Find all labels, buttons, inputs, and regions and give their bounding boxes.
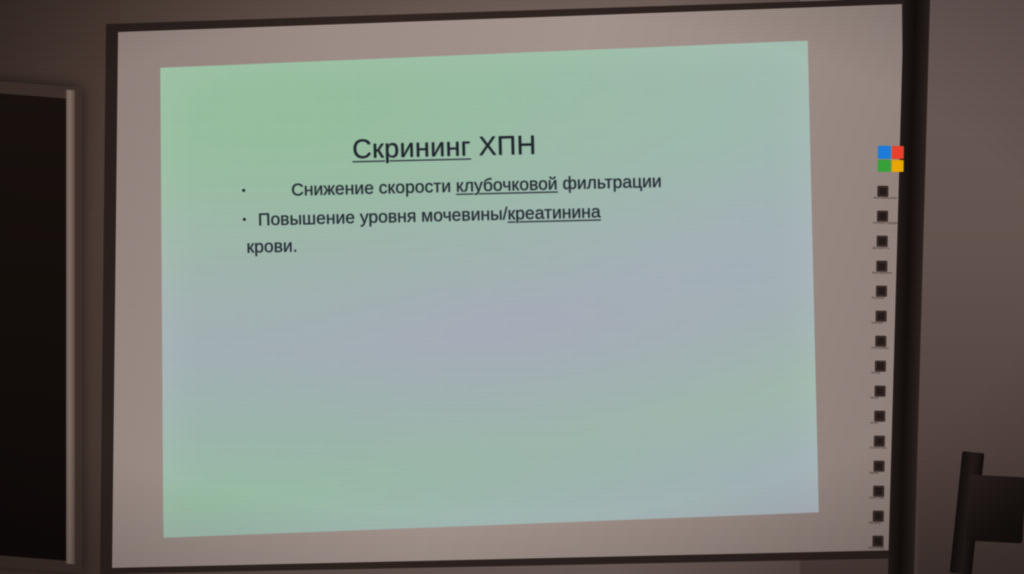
filemanager-icon bbox=[873, 486, 884, 497]
shortcut-label: Настройка bbox=[868, 547, 920, 551]
shortcut-item-12[interactable]: Total Cmd bbox=[867, 486, 925, 512]
browser-icon bbox=[876, 311, 887, 322]
room-photo: Скрининг ХПН Снижение скорости клубочков… bbox=[0, 0, 1024, 574]
shortcut-label: Архив bbox=[869, 472, 921, 476]
mail-icon bbox=[875, 361, 886, 372]
excel-icon bbox=[874, 411, 885, 422]
shortcut-label: Почта bbox=[871, 372, 923, 376]
bullet-dot-icon bbox=[243, 218, 246, 221]
media-icon bbox=[873, 511, 884, 522]
shortcut-item-8[interactable]: Word bbox=[868, 386, 926, 412]
shortcut-label: Total Cmd bbox=[869, 497, 921, 501]
blackboard-surface bbox=[0, 93, 66, 560]
blackboard-rail bbox=[66, 90, 75, 565]
recycle-bin-icon bbox=[876, 286, 887, 297]
slide-title: Скрининг ХПН bbox=[352, 130, 537, 165]
computer-icon bbox=[877, 186, 888, 197]
shortcut-item-14[interactable]: Настройка bbox=[866, 536, 924, 562]
slide-bullet-list: Снижение скорости клубочковой фильтрации… bbox=[242, 191, 783, 263]
archive-icon bbox=[873, 461, 884, 472]
shortcut-item-7[interactable]: Почта bbox=[869, 361, 927, 387]
shortcut-label: PowerPoint bbox=[870, 447, 922, 451]
apps-icon bbox=[875, 336, 886, 347]
shortcut-label: Мой компьютер bbox=[873, 197, 925, 201]
shortcut-label: Программы bbox=[871, 347, 923, 351]
shortcut-label: Мои рисунки bbox=[872, 272, 924, 276]
settings-icon bbox=[872, 536, 883, 547]
slide-content: Скрининг ХПН Снижение скорости клубочков… bbox=[152, 40, 823, 537]
shortcut-item-5[interactable]: Internet bbox=[869, 311, 927, 337]
shortcut-label: Корзина bbox=[872, 297, 924, 301]
projected-slide: Скрининг ХПН Снижение скорости клубочков… bbox=[152, 40, 823, 537]
list-item: Повышение уровня мочевины/креатинина кро… bbox=[242, 194, 783, 261]
shortcut-item-10[interactable]: PowerPoint bbox=[868, 436, 926, 462]
slide-title-rest: ХПН bbox=[470, 130, 536, 162]
shortcut-item-9[interactable]: Excel bbox=[868, 411, 926, 437]
powerpoint-icon bbox=[874, 436, 885, 447]
network-icon bbox=[877, 211, 888, 222]
shortcut-label: Сетевое окружение bbox=[873, 222, 925, 226]
shortcut-item-0[interactable]: Мой компьютер bbox=[871, 186, 929, 212]
shortcut-item-1[interactable]: Сетевое окружение bbox=[871, 211, 929, 237]
shortcut-label: Internet bbox=[872, 322, 924, 326]
windows-flag-logo-icon bbox=[878, 146, 904, 172]
shortcut-list: Мой компьютерСетевое окружениеДокументыМ… bbox=[866, 186, 929, 562]
shortcut-label: Документы bbox=[873, 247, 925, 251]
bullet-dot-icon bbox=[242, 189, 245, 192]
shortcut-label: Excel bbox=[870, 422, 922, 426]
shortcut-item-13[interactable]: Winamp bbox=[867, 511, 925, 537]
shortcut-label: Winamp bbox=[869, 522, 921, 526]
folder-icon bbox=[877, 236, 888, 247]
shortcut-item-6[interactable]: Программы bbox=[869, 336, 927, 362]
shortcut-item-4[interactable]: Корзина bbox=[870, 286, 928, 312]
shortcut-item-11[interactable]: Архив bbox=[867, 461, 925, 487]
shortcut-label: Word bbox=[870, 397, 922, 401]
pictures-icon bbox=[876, 261, 887, 272]
shortcut-item-3[interactable]: Мои рисунки bbox=[870, 261, 928, 287]
slide-title-word-1: Скрининг bbox=[352, 132, 471, 165]
projector-mount-block bbox=[966, 475, 1024, 544]
word-icon bbox=[874, 386, 885, 397]
shortcut-item-2[interactable]: Документы bbox=[870, 236, 928, 262]
